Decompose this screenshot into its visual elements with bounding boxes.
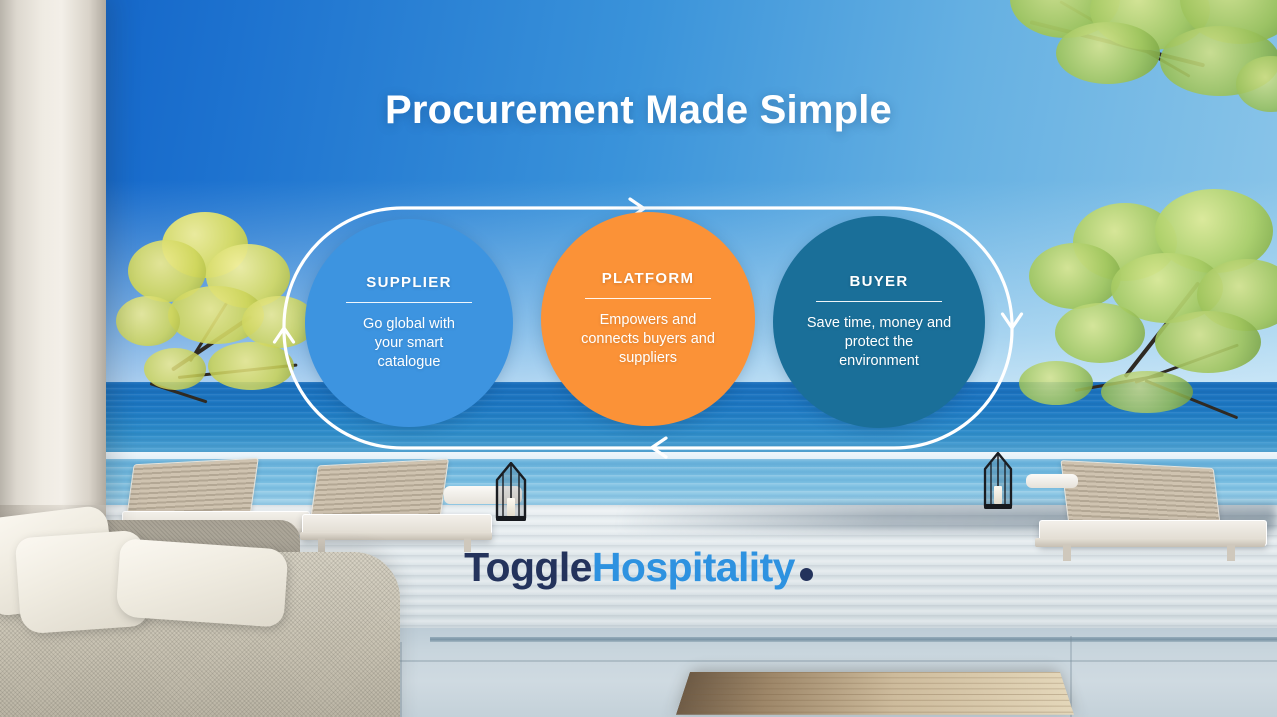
page-title: Procurement Made Simple xyxy=(0,88,1277,133)
terrace-column xyxy=(0,0,106,554)
tree-right-lower xyxy=(1015,175,1277,420)
procurement-cycle-diagram: SUPPLIER Go global with your smart catal… xyxy=(278,194,1018,462)
node-desc-platform: Empowers and connects buyers and supplie… xyxy=(578,311,718,368)
cycle-node-platform[interactable]: PLATFORM Empowers and connects buyers an… xyxy=(541,212,755,426)
node-desc-buyer: Save time, money and protect the environ… xyxy=(804,314,954,371)
sun-lounger xyxy=(300,458,490,550)
lantern xyxy=(494,462,528,524)
slide-canvas: Procurement Made Simple SUPPLIER Go glob… xyxy=(0,0,1277,717)
node-divider xyxy=(346,302,472,303)
floor-seam xyxy=(430,637,1277,642)
floor-grout-line xyxy=(400,642,402,717)
node-desc-supplier: Go global with your smart catalogue xyxy=(347,315,471,372)
cycle-node-buyer[interactable]: BUYER Save time, money and protect the e… xyxy=(773,216,985,428)
brand-logo: ToggleHospitality xyxy=(0,544,1277,591)
logo-text-hospitality: Hospitality xyxy=(592,544,795,590)
node-title-platform: PLATFORM xyxy=(602,270,695,287)
node-divider xyxy=(585,298,711,299)
node-divider xyxy=(816,301,942,302)
wooden-table xyxy=(676,672,1074,715)
logo-text-toggle: Toggle xyxy=(464,544,592,590)
logo-dot-icon xyxy=(800,568,813,581)
cycle-node-supplier[interactable]: SUPPLIER Go global with your smart catal… xyxy=(305,219,513,427)
node-title-buyer: BUYER xyxy=(849,273,908,290)
lounger-towel xyxy=(1026,474,1078,488)
node-title-supplier: SUPPLIER xyxy=(366,274,451,291)
